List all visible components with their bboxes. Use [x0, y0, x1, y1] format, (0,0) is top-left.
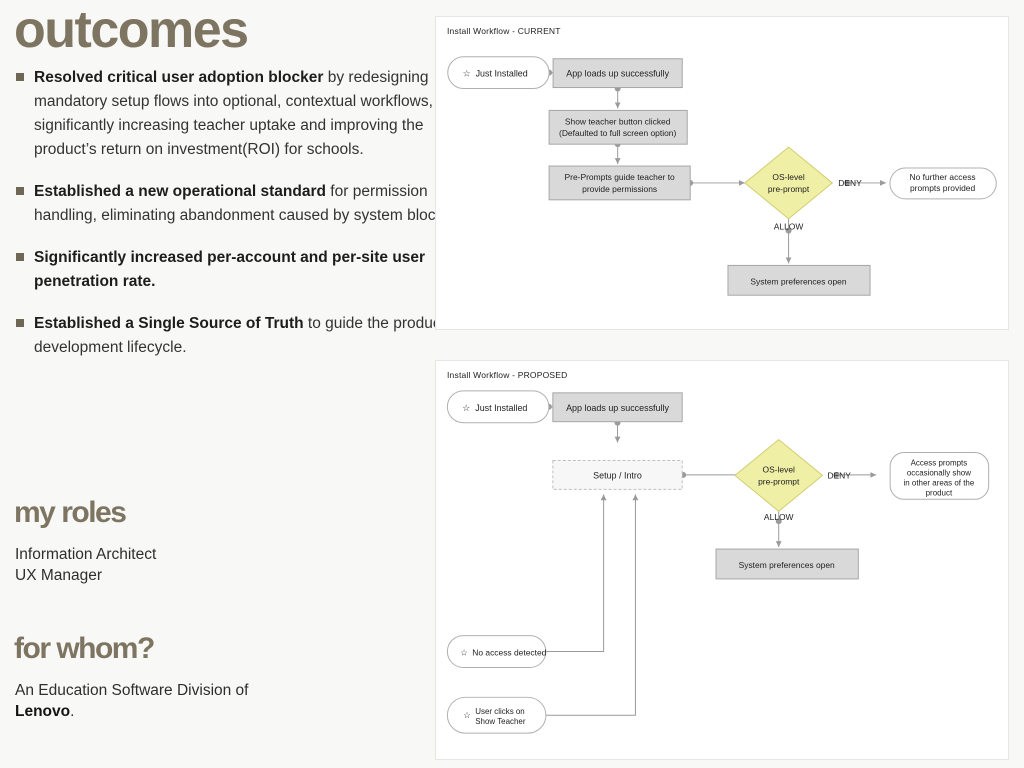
node-just-installed[interactable]: ☆ Just Installed [447, 391, 548, 423]
node-no-further-access[interactable]: No further access prompts provided [890, 168, 996, 199]
node-label-line3: in other areas of the [904, 478, 975, 487]
node-label-line1: User clicks on [475, 707, 525, 716]
node-decision-os-level[interactable]: OS-level pre-prompt [735, 440, 823, 512]
node-label: Just Installed [476, 69, 528, 79]
node-setup-intro[interactable]: Setup / Intro [553, 461, 682, 490]
node-label-line1: Show teacher button clicked [565, 116, 671, 126]
star-icon: ☆ [462, 403, 470, 413]
bullet-square-icon [16, 319, 24, 327]
for-whom-line2: Lenovo. [15, 702, 248, 723]
node-label-line2: (Defaulted to full screen option) [559, 128, 676, 138]
brand-period: . [70, 703, 74, 720]
flowchart-current: ☆ Just Installed App loads up successful… [436, 17, 1008, 329]
node-label: Setup / Intro [593, 470, 642, 480]
connector-dots [546, 70, 850, 234]
node-label-line2: provide permissions [582, 184, 657, 194]
list-item: Established a Single Source of Truth to … [14, 312, 456, 360]
node-user-clicks-show-teacher[interactable]: ☆ User clicks on Show Teacher [447, 697, 546, 733]
bullet-bold-text: Significantly increased per-account and … [34, 249, 425, 290]
bullet-square-icon [16, 73, 24, 81]
for-whom-line1: An Education Software Division of [15, 681, 248, 702]
edge-label-allow: ALLOW [764, 512, 794, 522]
brand-name: Lenovo [15, 703, 70, 720]
my-roles-heading: my roles [14, 498, 125, 528]
node-label: Just Installed [475, 403, 527, 413]
for-whom-heading: for whom? [14, 634, 154, 664]
node-label-line1: No further access [910, 172, 976, 182]
node-label: App loads up successfully [566, 69, 669, 79]
star-icon: ☆ [460, 648, 468, 658]
node-label: App loads up successfully [566, 403, 669, 413]
star-icon: ☆ [463, 710, 471, 720]
node-label-line2: pre-prompt [768, 184, 810, 194]
node-label: No access detected [472, 648, 546, 658]
outcomes-bullet-list: Resolved critical user adoption blocker … [14, 66, 456, 378]
node-label: System preferences open [739, 560, 835, 570]
node-label-line1: Pre-Prompts guide teacher to [565, 172, 676, 182]
edge-label-deny: DENY [838, 178, 862, 188]
bullet-bold-text: Resolved critical user adoption blocker [34, 69, 323, 86]
bullet-bold-text: Established a new operational standard [34, 183, 326, 200]
node-label: System preferences open [750, 276, 846, 286]
diagram-panel-proposed: Install Workflow - PROPOSED [435, 360, 1009, 760]
left-text-column: outcomes Resolved critical user adoption… [0, 0, 435, 768]
flowchart-proposed: ☆ Just Installed App loads up successful… [436, 361, 1008, 759]
edge-label-allow: ALLOW [774, 222, 804, 232]
node-access-prompts[interactable]: Access prompts occasionally show in othe… [890, 453, 989, 500]
node-label-line1: OS-level [763, 464, 795, 474]
bullet-square-icon [16, 187, 24, 195]
role-line: UX Manager [15, 566, 156, 587]
node-label-line2: prompts provided [910, 183, 975, 193]
node-system-preferences-open[interactable]: System preferences open [728, 265, 870, 295]
bullet-square-icon [16, 253, 24, 261]
node-label-line4: product [926, 488, 953, 497]
diagram-panel-current: Install Workflow - CURRENT [435, 16, 1009, 330]
node-label-line2: occasionally show [907, 468, 971, 477]
node-label-line2: pre-prompt [758, 476, 800, 486]
list-item: Resolved critical user adoption blocker … [14, 66, 456, 162]
list-item: Established a new operational standard f… [14, 180, 456, 228]
node-just-installed[interactable]: ☆ Just Installed [448, 57, 549, 89]
role-line: Information Architect [15, 545, 156, 566]
my-roles-list: Information Architect UX Manager [15, 545, 156, 586]
list-item: Significantly increased per-account and … [14, 246, 456, 294]
node-app-loads[interactable]: App loads up successfully [553, 59, 682, 88]
node-system-preferences-open[interactable]: System preferences open [716, 549, 858, 579]
node-no-access-detected[interactable]: ☆ No access detected [447, 636, 546, 668]
node-app-loads[interactable]: App loads up successfully [553, 393, 682, 422]
star-icon: ☆ [463, 69, 471, 79]
node-decision-os-level[interactable]: OS-level pre-prompt [745, 147, 832, 219]
feedback-connectors [497, 494, 635, 715]
page-title: outcomes [14, 4, 248, 56]
edge-label-deny: DENY [827, 470, 851, 480]
node-label-line1: Access prompts [911, 458, 968, 467]
for-whom-body: An Education Software Division of Lenovo… [15, 681, 248, 722]
node-show-teacher-clicked[interactable]: Show teacher button clicked (Defaulted t… [549, 110, 687, 144]
node-label-line1: OS-level [772, 172, 804, 182]
slide-root: outcomes Resolved critical user adoption… [0, 0, 1024, 768]
bullet-bold-text: Established a Single Source of Truth [34, 315, 304, 332]
node-pre-prompts[interactable]: Pre-Prompts guide teacher to provide per… [549, 166, 690, 200]
node-label-line2: Show Teacher [475, 717, 526, 726]
